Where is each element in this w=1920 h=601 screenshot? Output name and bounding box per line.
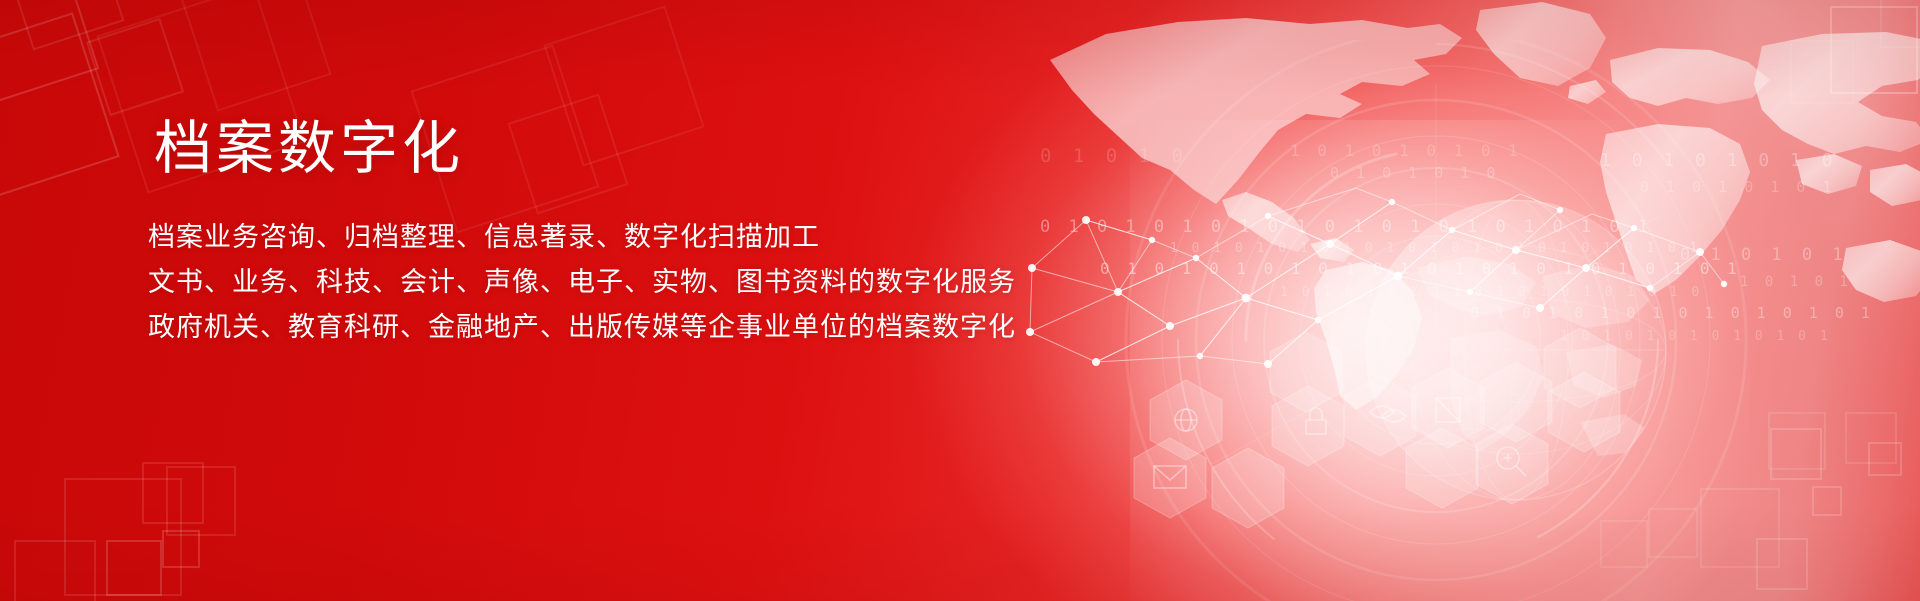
- hero-banner: 0 1 0 1 0 1 0 1 0 1 0 1 0 1 0 1 0 1 0 1 …: [0, 0, 1920, 601]
- subtitle-line-3: 政府机关、教育科研、金融地产、出版传媒等企事业单位的档案数字化: [148, 305, 1048, 350]
- subtitle-line-1: 档案业务咨询、归档整理、信息著录、数字化扫描加工: [148, 215, 1048, 260]
- subtitle-line-2: 文书、业务、科技、会计、声像、电子、实物、图书资料的数字化服务: [148, 260, 1048, 305]
- page-title: 档案数字化: [148, 118, 1048, 181]
- subtitle-list: 档案业务咨询、归档整理、信息著录、数字化扫描加工 文书、业务、科技、会计、声像、…: [148, 215, 1048, 351]
- banner-copy: 档案数字化 档案业务咨询、归档整理、信息著录、数字化扫描加工 文书、业务、科技、…: [148, 118, 1048, 351]
